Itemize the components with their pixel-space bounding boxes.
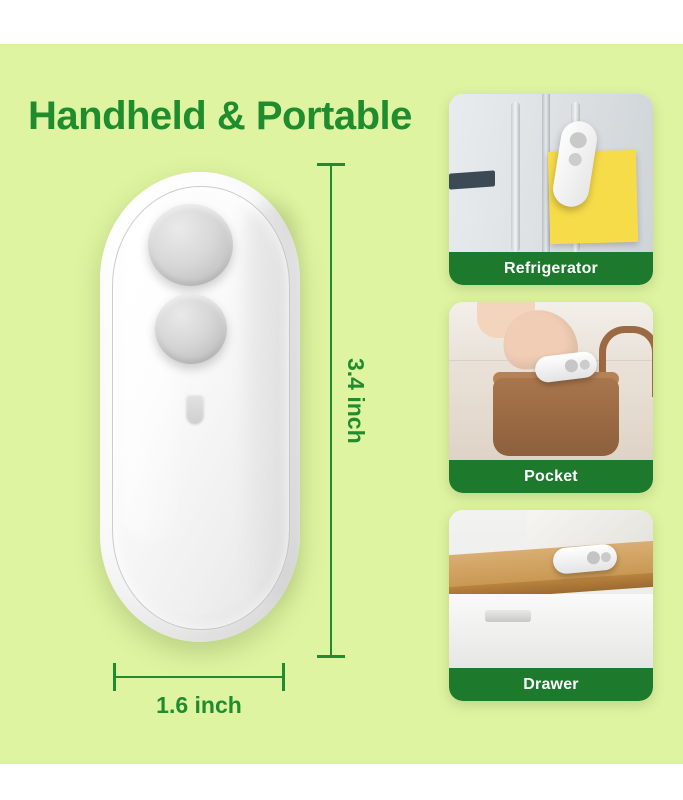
device-button-small-icon	[568, 152, 583, 167]
drawer-handle	[485, 610, 531, 622]
use-case-card-pocket: Pocket	[449, 302, 653, 493]
brand-logo-icon	[186, 394, 204, 424]
mode-button	[155, 294, 227, 364]
device-button-large-icon	[569, 131, 588, 149]
power-button	[148, 204, 233, 286]
use-case-card-drawer: Drawer	[449, 510, 653, 701]
height-dimension-label: 3.4 inch	[342, 358, 369, 444]
drawer-front-panel	[449, 594, 653, 668]
card-caption-drawer: Drawer	[449, 668, 653, 701]
product-infographic: Handheld & Portable 3.4 inch 1.6 inch	[0, 0, 683, 800]
device-body	[100, 172, 300, 642]
card-caption-refrigerator: Refrigerator	[449, 252, 653, 285]
height-dimension-line	[330, 163, 332, 658]
width-dimension-label: 1.6 inch	[113, 692, 285, 719]
page-title: Handheld & Portable	[28, 94, 412, 139]
card-caption-pocket: Pocket	[449, 460, 653, 493]
device-button-large-icon	[564, 359, 578, 373]
refrigerator-handle-left	[511, 102, 520, 252]
handbag	[493, 378, 619, 456]
device-button-large-icon	[586, 551, 600, 565]
pocket-photo	[449, 302, 653, 460]
use-case-card-refrigerator: Refrigerator	[449, 94, 653, 285]
device-button-small-icon	[601, 552, 612, 563]
refrigerator-photo	[449, 94, 653, 252]
drawer-photo	[449, 510, 653, 668]
device-button-small-icon	[579, 359, 590, 370]
width-dimension-line	[113, 676, 285, 678]
refrigerator-vent	[449, 170, 495, 189]
device-illustration	[100, 172, 300, 642]
